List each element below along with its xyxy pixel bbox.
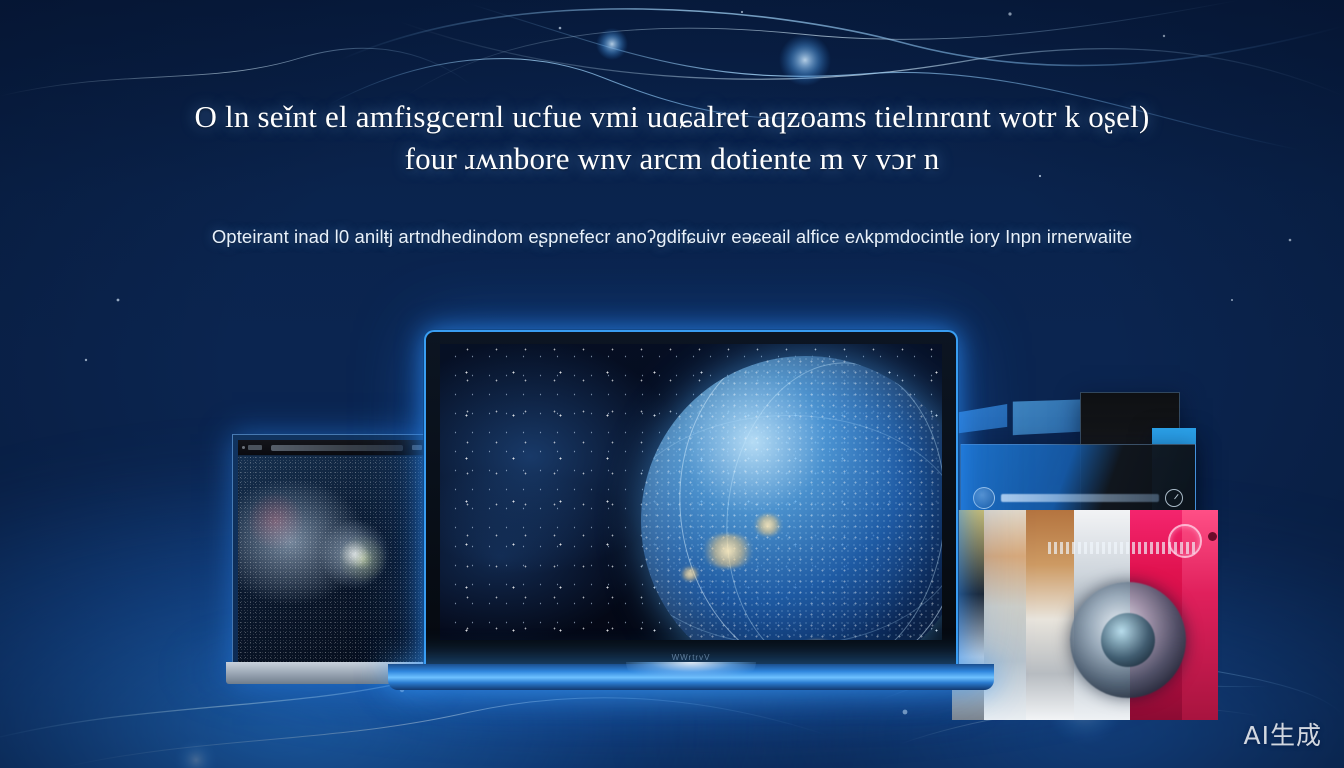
camera-lens-aperture — [1101, 613, 1155, 667]
planet-arc-equator — [641, 415, 942, 640]
ai-generated-watermark: AI生成 — [1244, 716, 1322, 752]
desktop-monitor[interactable] — [232, 434, 432, 684]
toolbar-dot-icon — [242, 446, 245, 449]
monitor-screen — [238, 440, 426, 662]
laptop-base-notch — [626, 662, 756, 678]
laptop-lid: WWrtrvV — [424, 330, 958, 670]
swirl-icon — [1168, 524, 1202, 558]
toolbar-chip — [248, 445, 262, 450]
accent-dot-icon — [1208, 532, 1217, 541]
address-bar[interactable] — [271, 445, 403, 451]
hero-banner-canvas: O ln seǐnt el amfisgcernl ucfue vmi uɑɕa… — [0, 0, 1344, 768]
planet-city-light — [700, 534, 756, 568]
page-title: O ln seǐnt el amfisgcernl ucfue vmi uɑɕa… — [0, 96, 1344, 180]
browser-toolbar[interactable] — [238, 440, 426, 455]
headline-bar — [1001, 494, 1159, 502]
hero-copy-block: O ln seǐnt el amfisgcernl ucfue vmi uɑɕa… — [0, 96, 1344, 250]
camera-lens-graphic — [1070, 582, 1186, 698]
laptop[interactable]: WWrtrvV — [424, 330, 958, 690]
monitor-wallpaper-grain — [238, 455, 426, 662]
page-subtitle: Opteirant inad l0 anilŧj artndhedindom e… — [0, 224, 1344, 250]
toolbar-chip-right — [412, 445, 422, 450]
laptop-brand-label: WWrtrvV — [426, 653, 956, 662]
collage-panel-cream — [984, 510, 1026, 720]
circle-badge-icon — [973, 487, 995, 509]
clock-icon — [1165, 489, 1183, 507]
monitor-frame — [232, 434, 432, 684]
laptop-screen — [440, 344, 942, 640]
